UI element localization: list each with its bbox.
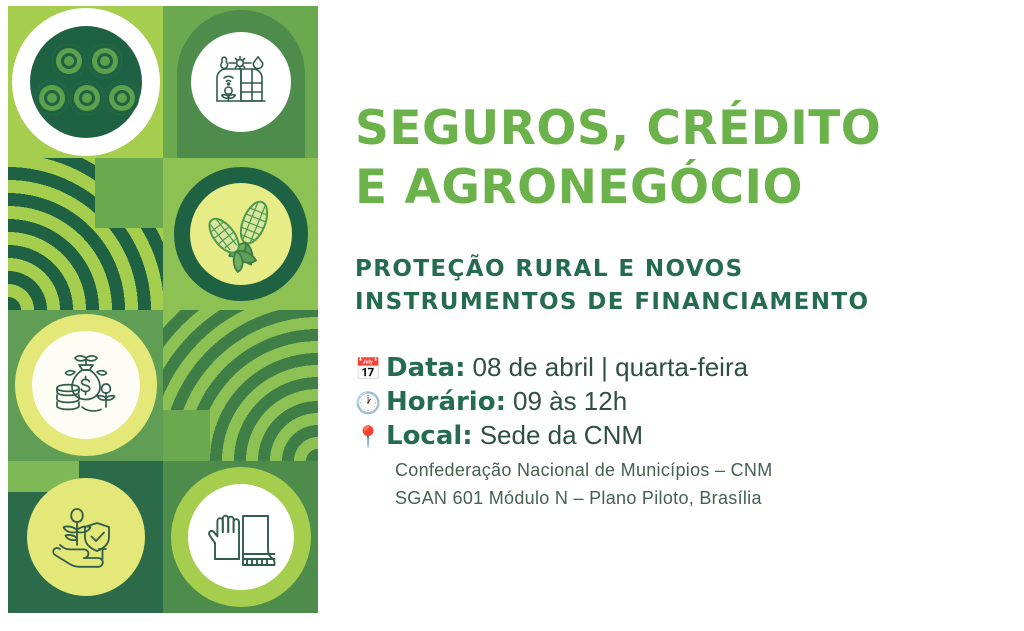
concentric-seed-circles-icon: [30, 26, 142, 138]
time-value: 09 às 12h: [513, 386, 627, 417]
event-poster: SEGUROS, CRÉDITO E AGRONEGÓCIO PROTEÇÃO …: [0, 0, 1024, 631]
icon-mosaic: [8, 6, 318, 613]
detail-row-location: 📍 Local: Sede da CNM: [355, 420, 975, 451]
page-subtitle: PROTEÇÃO RURAL E NOVOS INSTRUMENTOS DE F…: [355, 253, 955, 318]
address-line-2: SGAN 601 Módulo N – Plano Piloto, Brasíl…: [395, 485, 975, 513]
glove-boot-tile: [163, 461, 318, 613]
icon-circle: [191, 32, 291, 132]
poster-text-content: SEGUROS, CRÉDITO E AGRONEGÓCIO PROTEÇÃO …: [350, 0, 1010, 631]
light-green-ring: [171, 467, 311, 607]
seed-circles-tile: [8, 6, 163, 158]
hand-plant-shield-icon: [46, 497, 126, 577]
location-label: Local:: [386, 421, 473, 451]
date-label: Data:: [386, 353, 466, 383]
arc-pattern-tile-left: [8, 158, 163, 310]
money-bag-tile: [8, 310, 163, 462]
calendar-icon: 📅: [355, 359, 379, 380]
smart-greenhouse-icon: [210, 51, 272, 113]
date-value: 08 de abril | quarta-feira: [473, 352, 749, 383]
title-line-2: E AGRONEGÓCIO: [355, 159, 995, 218]
detail-row-date: 📅 Data: 08 de abril | quarta-feira: [355, 352, 975, 383]
clock-icon: 🕐: [355, 393, 379, 414]
title-line-1: SEGUROS, CRÉDITO: [355, 100, 995, 159]
corn-tile: [163, 158, 318, 310]
page-title: SEGUROS, CRÉDITO E AGRONEGÓCIO: [355, 100, 995, 218]
subtitle-line-2: INSTRUMENTOS DE FINANCIAMENTO: [355, 286, 955, 319]
event-details: 📅 Data: 08 de abril | quarta-feira 🕐 Hor…: [355, 352, 975, 513]
money-bag-plant-icon: [49, 348, 123, 422]
icon-circle: [190, 183, 292, 285]
hand-plant-shield-tile: [8, 461, 163, 613]
address-line-1: Confederação Nacional de Municípios – CN…: [395, 457, 975, 485]
icon-circle: [27, 478, 145, 596]
white-halo: [12, 8, 160, 156]
location-pin-icon: 📍: [355, 427, 379, 448]
address-block: Confederação Nacional de Municípios – CN…: [395, 457, 975, 513]
detail-row-time: 🕐 Horário: 09 às 12h: [355, 386, 975, 417]
icon-circle: [188, 484, 294, 590]
glove-and-boot-icon: [203, 499, 279, 575]
corn-cobs-icon: [199, 192, 283, 276]
icon-circle: [32, 331, 140, 439]
yellow-ring: [15, 314, 157, 456]
dark-ring: [174, 167, 308, 301]
subtitle-line-1: PROTEÇÃO RURAL E NOVOS: [355, 253, 955, 286]
location-value: Sede da CNM: [480, 420, 643, 451]
greenhouse-tile: [163, 6, 318, 158]
time-label: Horário:: [386, 387, 506, 417]
arc-pattern-tile-right: [163, 310, 318, 462]
